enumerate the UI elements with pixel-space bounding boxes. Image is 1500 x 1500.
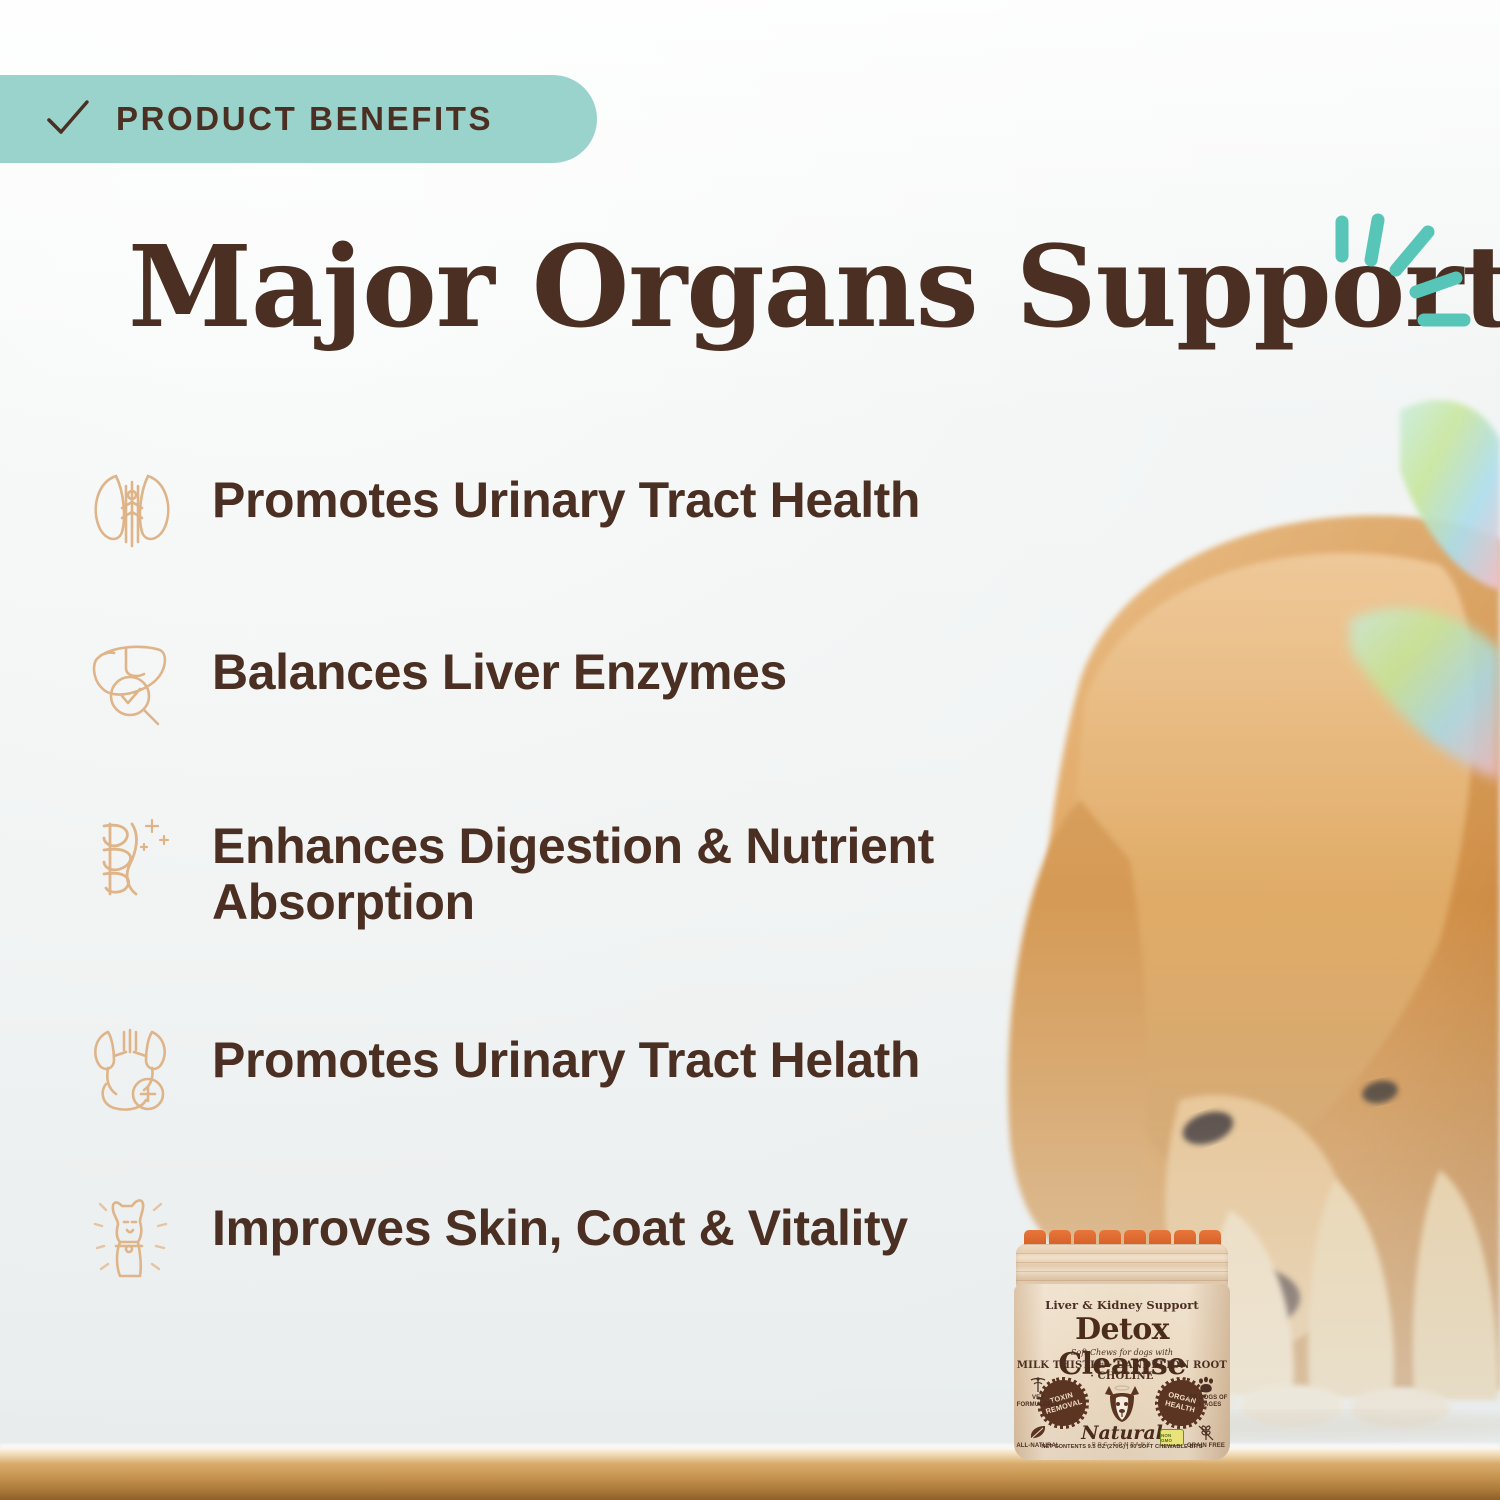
product-benefits-label: PRODUCT BENEFITS: [116, 100, 493, 138]
sparkle-lines-icon: [1316, 204, 1496, 344]
product-benefits-infographic: PRODUCT BENEFITS Major Organs Support: [0, 0, 1500, 1500]
grain-free-icon: [1196, 1424, 1216, 1442]
product-soft-chews-line: Soft Chews for dogs with: [1014, 1348, 1230, 1357]
benefit-item: Enhances Digestion & Nutrient Absorption: [86, 808, 1086, 930]
benefit-label: Enhances Digestion & Nutrient Absorption: [212, 808, 1086, 930]
dog-coat-icon: [86, 1190, 178, 1282]
net-contents: NET CONTENTS 9.5 OZ (270G) | 90 SOFT CHE…: [1014, 1444, 1230, 1450]
jar-lid: [1016, 1244, 1228, 1288]
check-icon: [46, 99, 90, 139]
benefit-label: Improves Skin, Coat & Vitality: [212, 1190, 908, 1256]
benefit-label: Promotes Urinary Tract Health: [212, 462, 920, 528]
caduceus-icon: [1028, 1376, 1048, 1394]
liver-check-icon: [86, 634, 178, 726]
intestines-icon: [86, 808, 178, 900]
jar-label: Liver & Kidney Support Detox Cleanse Sof…: [1014, 1284, 1230, 1460]
product-jar: Liver & Kidney Support Detox Cleanse Sof…: [1012, 1228, 1232, 1460]
leaf-icon: [1028, 1424, 1048, 1442]
page-title: Major Organs Support: [128, 232, 1418, 344]
benefit-item: Improves Skin, Coat & Vitality: [86, 1190, 1086, 1282]
benefit-label: Promotes Urinary Tract Helath: [212, 1022, 920, 1088]
vet-formulated-label: VET FORMULATED: [1017, 1395, 1060, 1408]
wooden-shelf: [0, 1448, 1500, 1500]
all-ages-label: FOR DOGS OF ALL AGES: [1184, 1395, 1227, 1408]
all-ages-badge: FOR DOGS OF ALL AGES: [1184, 1376, 1228, 1409]
urinary-tract-icon: [86, 1022, 178, 1114]
vet-formulated-badge: VET FORMULATED: [1016, 1376, 1060, 1409]
kidneys-icon: [86, 462, 178, 554]
product-benefits-badge: PRODUCT BENEFITS: [0, 75, 597, 163]
benefit-item: Promotes Urinary Tract Health: [86, 462, 1086, 554]
benefit-item: Balances Liver Enzymes: [86, 634, 1086, 726]
product-subtitle: Liver & Kidney Support: [1014, 1298, 1230, 1312]
paw-icon: [1196, 1376, 1216, 1394]
boston-terrier-logo-icon: [1099, 1384, 1145, 1424]
benefit-item: Promotes Urinary Tract Helath: [86, 1022, 1086, 1114]
benefit-label: Balances Liver Enzymes: [212, 634, 787, 700]
jar-body: Liver & Kidney Support Detox Cleanse Sof…: [1014, 1284, 1230, 1460]
